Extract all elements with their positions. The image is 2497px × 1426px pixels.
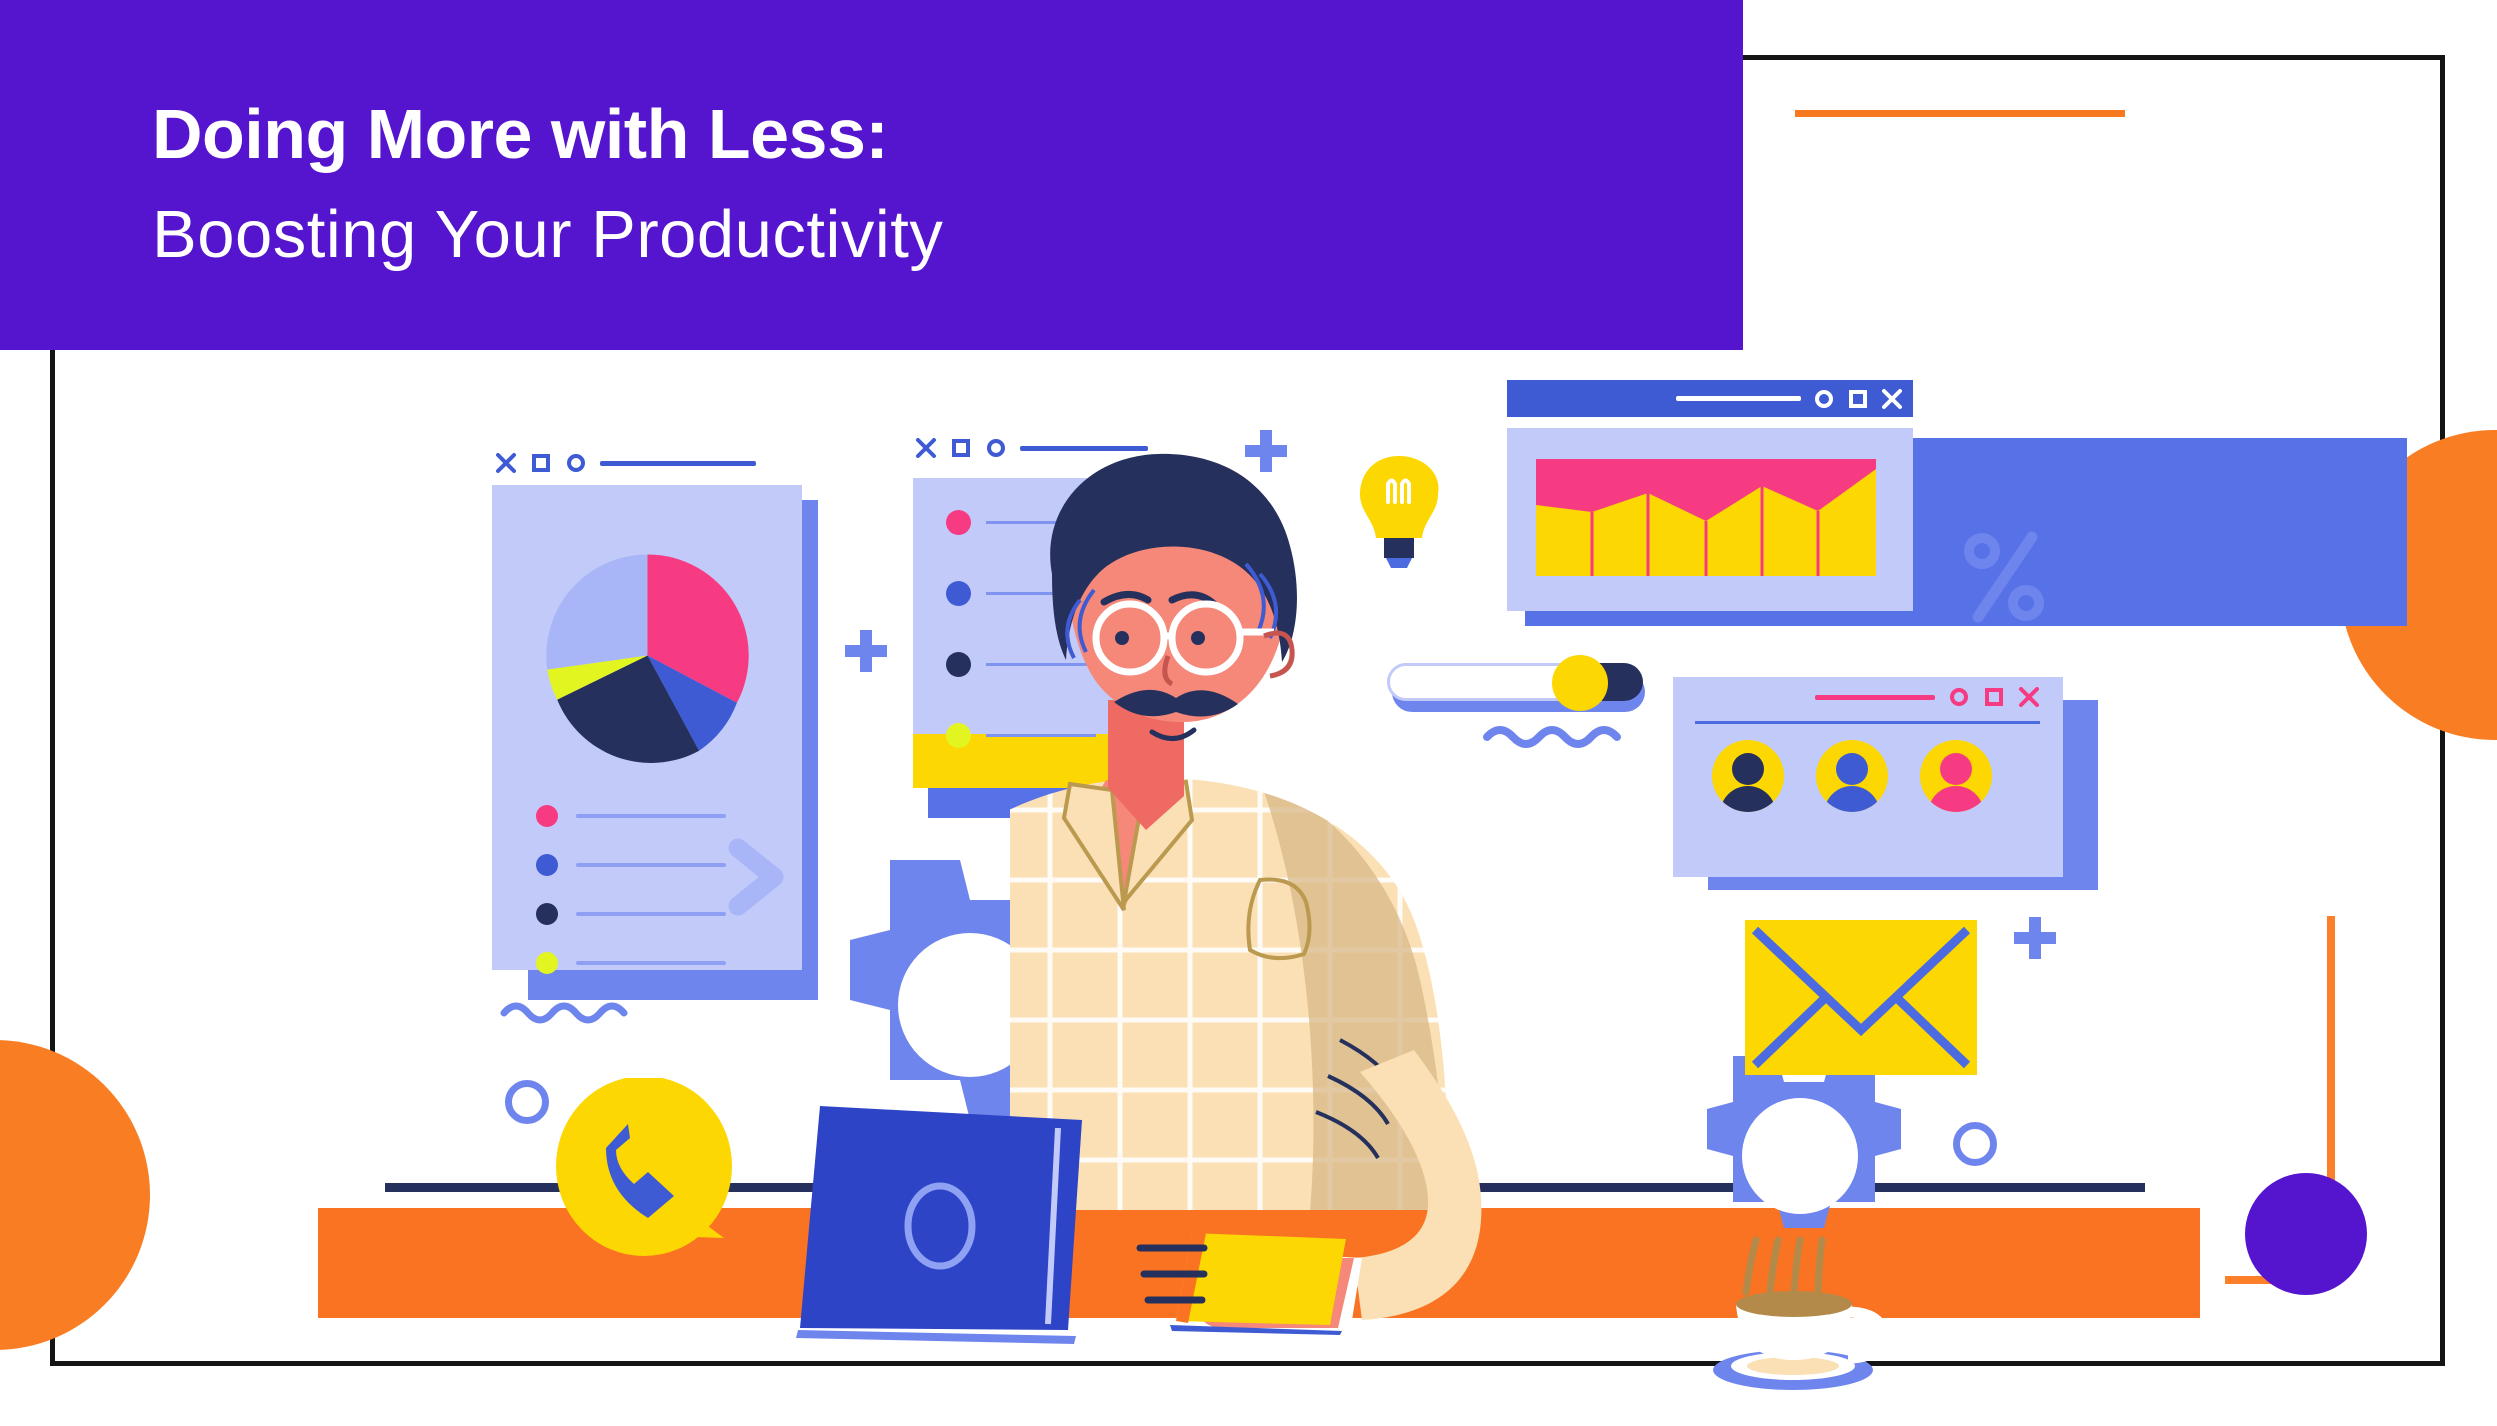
illustration-canvas: Doing More with Less: Boosting Your Prod… xyxy=(0,0,2497,1426)
pie-chart-legend xyxy=(536,805,726,1001)
pie-chart xyxy=(540,548,755,763)
decor-ring-left xyxy=(505,1080,549,1124)
percent-icon xyxy=(1960,527,2050,627)
avatar-body xyxy=(1824,786,1880,812)
close-icon[interactable] xyxy=(2018,686,2040,708)
coffee-handle xyxy=(1848,1312,1882,1358)
laptop-base xyxy=(796,1330,1076,1344)
wave-decor-left xyxy=(500,998,650,1024)
avatar-body xyxy=(1928,786,1984,812)
list-bullet-navy xyxy=(946,652,971,677)
legend-swatch-blue xyxy=(536,854,558,876)
legend-item xyxy=(536,903,726,925)
title-banner: Doing More with Less: Boosting Your Prod… xyxy=(0,0,1743,350)
pie-card-window-controls[interactable] xyxy=(495,452,756,474)
laptop[interactable] xyxy=(790,1098,1110,1348)
legend-label-line xyxy=(576,912,726,916)
legend-swatch-navy xyxy=(536,903,558,925)
list-bullet-pink xyxy=(946,510,971,535)
character-eye-right xyxy=(1191,631,1205,645)
legend-item xyxy=(536,952,726,974)
users-window-controls[interactable] xyxy=(1815,686,2040,708)
plus-bar-v xyxy=(860,630,872,672)
page-title-line-2: Boosting Your Productivity xyxy=(152,196,943,273)
avatar-head xyxy=(1836,753,1868,785)
maximize-icon[interactable] xyxy=(950,437,972,459)
list-bullet-lime xyxy=(946,723,971,748)
close-icon[interactable] xyxy=(495,452,517,474)
close-icon[interactable] xyxy=(1881,388,1903,410)
minimize-icon[interactable] xyxy=(985,437,1007,459)
minimize-icon[interactable] xyxy=(1948,686,1970,708)
plus-bar-v xyxy=(2029,917,2041,959)
close-icon[interactable] xyxy=(915,437,937,459)
area-chart-titlebar[interactable] xyxy=(1507,380,1913,417)
phone-bubble-icon xyxy=(556,1078,756,1278)
minimize-icon[interactable] xyxy=(565,452,587,474)
avatar[interactable] xyxy=(1920,740,1992,812)
notepad-lines xyxy=(1130,1230,1250,1320)
legend-swatch-lime xyxy=(536,952,558,974)
chevron-right-icon[interactable] xyxy=(726,838,790,916)
maximize-icon[interactable] xyxy=(1983,686,2005,708)
legend-swatch-pink xyxy=(536,805,558,827)
laptop-lid xyxy=(800,1106,1082,1330)
legend-item xyxy=(536,854,726,876)
character-eye-left xyxy=(1115,631,1129,645)
coffee-cup xyxy=(1700,1200,1900,1400)
decor-ring-right xyxy=(1953,1122,1997,1166)
list-bullet-blue xyxy=(946,581,971,606)
legend-label-line xyxy=(576,863,726,867)
minimize-icon[interactable] xyxy=(1813,388,1835,410)
legend-item xyxy=(536,805,726,827)
legend-label-line xyxy=(576,961,726,965)
avatar-head xyxy=(1940,753,1972,785)
title-bar-line xyxy=(1815,695,1935,700)
maximize-icon[interactable] xyxy=(1847,388,1869,410)
coffee-steam xyxy=(1746,1240,1822,1292)
coffee-liquid xyxy=(1736,1291,1852,1317)
maximize-icon[interactable] xyxy=(530,452,552,474)
legend-label-line xyxy=(576,814,726,818)
title-bar-line xyxy=(1676,396,1801,401)
title-bar-line xyxy=(600,461,756,466)
page-title-line-1: Doing More with Less: xyxy=(152,94,888,174)
